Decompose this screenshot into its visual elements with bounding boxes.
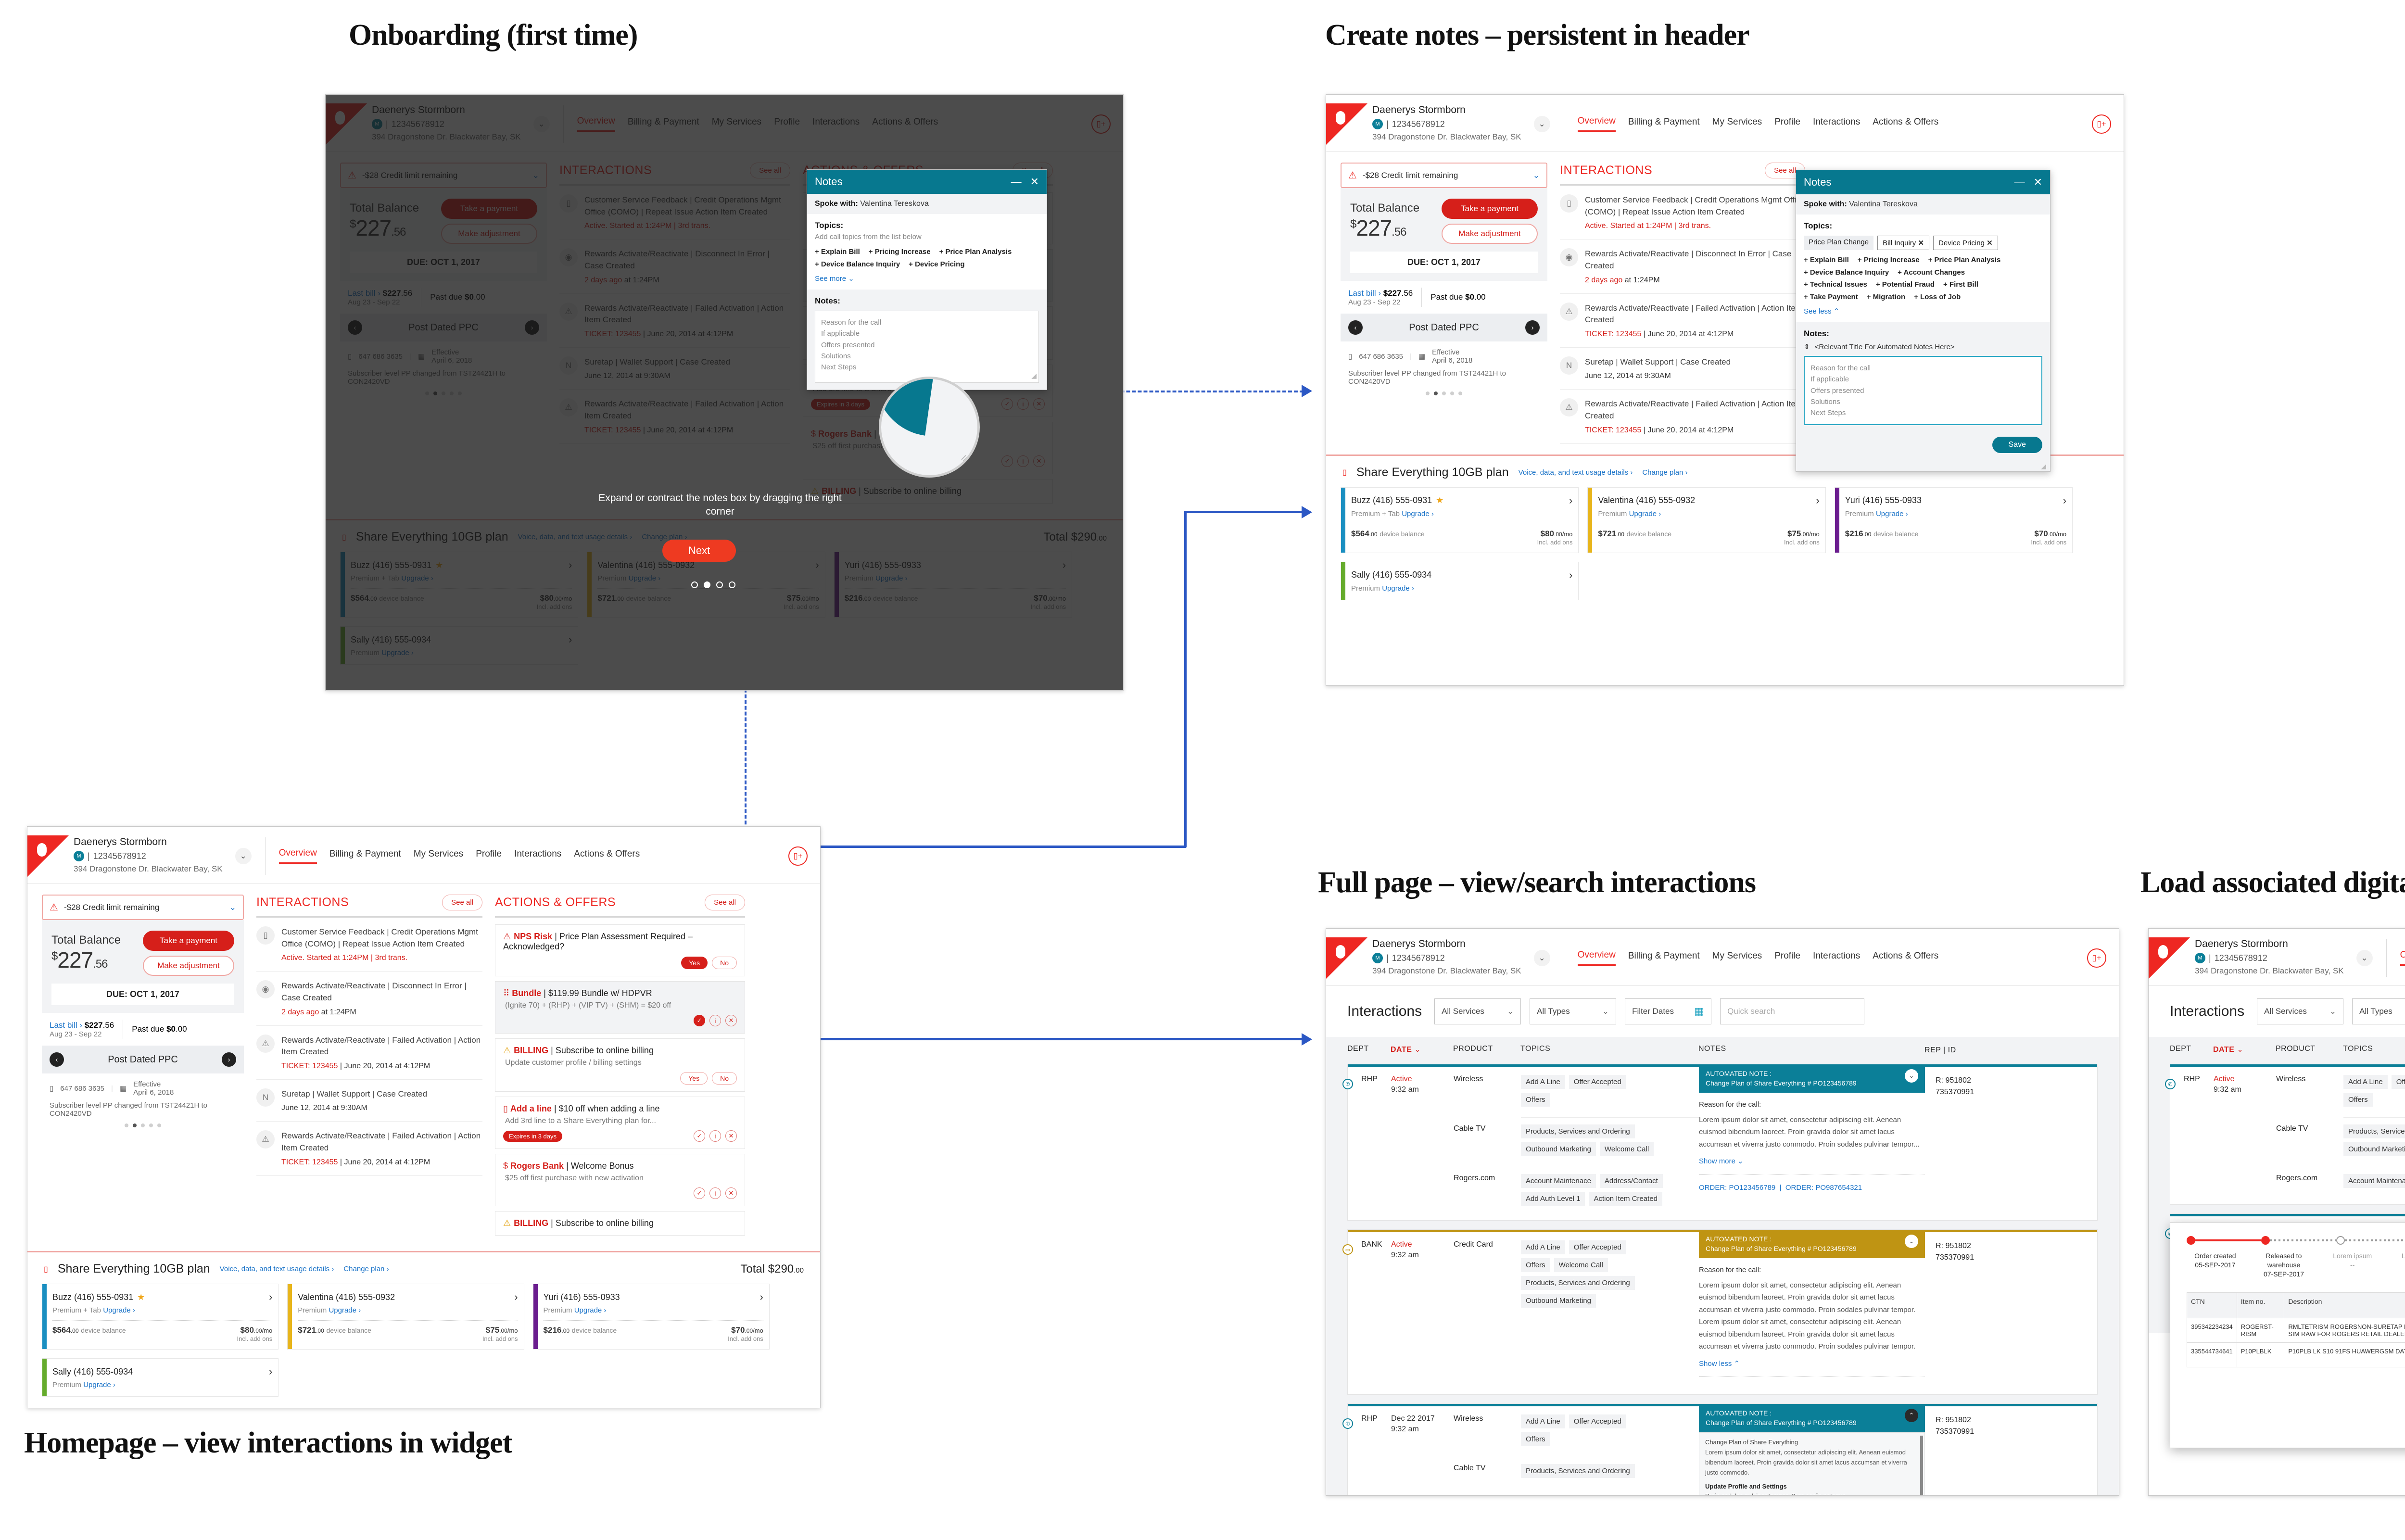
onboarding-step-dots[interactable] (691, 581, 735, 588)
list-item[interactable]: ⚠Rewards Activate/Reactivate | Failed Ac… (1560, 390, 1805, 443)
row-product: Rogers.com (2276, 1174, 2343, 1192)
topic-chip[interactable]: Offer Accepted (1569, 1414, 1626, 1428)
chevron-down-icon[interactable]: ⌄ (1533, 171, 1540, 180)
topic-chip[interactable]: Add Auth Level 1 (1521, 1192, 1585, 1206)
note-body: Lorem ipsum dolor sit amet, consectetur … (1699, 1281, 1915, 1351)
row-notes: AUTOMATED NOTE :Change Plan of Share Eve… (1699, 1075, 1925, 1210)
row-product: Wireless (2276, 1075, 2343, 1111)
show-less-link[interactable]: Show less ⌃ (1699, 1358, 1925, 1370)
topic-chip[interactable]: Device Pricing ✕ (1933, 236, 1998, 250)
line-upgrade-link[interactable]: Upgrade › (1629, 510, 1661, 518)
app-header-homepage: Daenerys Stormborn M | 12345678912 394 D… (27, 827, 820, 884)
chevron-down-icon[interactable]: ⌄ (229, 903, 236, 912)
tab-interactions[interactable]: Interactions (514, 849, 561, 863)
list-item[interactable]: Yuri (416) 555-0933›Premium Upgrade ›$21… (533, 1284, 770, 1350)
tab-actions-offers[interactable]: Actions & Offers (574, 849, 640, 863)
ppc-effective-label: Effective (133, 1080, 161, 1088)
list-item[interactable]: ◉Rewards Activate/Reactivate | Disconnec… (1560, 240, 1805, 293)
topic-option[interactable]: + Device Balance Inquiry (1804, 268, 1889, 277)
order-link[interactable]: ORDER: PO123456789 (1699, 1184, 1775, 1192)
balance-whole: 227 (1356, 215, 1392, 240)
spoke-with-label: Spoke with: (1804, 200, 1847, 208)
topic-option[interactable]: + Potential Fraud (1876, 280, 1935, 289)
ppc-note: Subscriber level PP changed from TST2442… (1348, 369, 1540, 386)
line-upgrade-link[interactable]: Upgrade › (574, 1306, 607, 1314)
col-notes: NOTES (1698, 1045, 1924, 1056)
list-item[interactable]: ⚠NPS Risk | Price Plan Assessment Requir… (495, 924, 745, 976)
interactions-header: INTERACTIONS See all (256, 895, 482, 910)
line-upgrade-link[interactable]: Upgrade › (1402, 510, 1434, 518)
close-icon[interactable]: ✕ (725, 1015, 737, 1026)
row-date: Active9:32 am (1391, 1240, 1454, 1384)
line-mo: $70 (731, 1325, 745, 1335)
balance-cents: .56 (93, 958, 107, 971)
topic-chip[interactable]: Welcome Call (1600, 1142, 1654, 1156)
line-addons: Incl. add ons (2031, 539, 2066, 546)
offer-yes-button[interactable]: Yes (680, 1072, 708, 1085)
customer-info: Daenerys Stormborn M | 12345678912 394 D… (2190, 937, 2344, 977)
table-row[interactable]: 395342234234 ROGERST-RISM RMLTETRISM ROG… (2187, 1318, 2405, 1342)
topic-chip[interactable]: Offers (1521, 1258, 1550, 1272)
topic-option[interactable]: + Price Plan Analysis (1928, 256, 2001, 264)
plan-lines: Buzz (416) 555-0931★›Premium + Tab Upgra… (42, 1284, 806, 1397)
cell-description: RMLTETRISM ROGERSNON-SURETAP MULTI SIM R… (2284, 1318, 2405, 1342)
list-item[interactable]: ⠿ Bundle | $119.99 Bundle w/ HDPVR(Ignit… (495, 981, 745, 1034)
drag-handle-icon[interactable]: ⇕ (1804, 342, 1810, 351)
table-row[interactable]: ✆ RHP Dec 22 20179:32 am Wireless Add A … (1347, 1403, 2098, 1496)
tab-billing-payment[interactable]: Billing & Payment (329, 849, 401, 863)
type-filter-select[interactable]: All Types⌄ (2352, 998, 2405, 1024)
make-adjustment-button[interactable]: Make adjustment (143, 956, 234, 976)
line-mo-cents: .00 (254, 1327, 262, 1334)
topic-chip[interactable]: Offer Accepted (1569, 1240, 1626, 1254)
take-payment-button[interactable]: Take a payment (143, 931, 234, 951)
resize-grip-icon[interactable]: ◢ (1031, 371, 1037, 381)
credit-limit-alert[interactable]: ⚠ -$28 Credit limit remaining ⌄ (1341, 163, 1547, 188)
make-adjustment-button[interactable]: Make adjustment (1442, 224, 1538, 244)
line-balance-label: device balance (1873, 530, 1918, 538)
scrollbar[interactable] (1920, 1436, 1923, 1496)
tab-actions-offers[interactable]: Actions & Offers (1873, 951, 1938, 965)
plan-usage-link[interactable]: Voice, data, and text usage details › (1519, 468, 1633, 477)
onboarding-tip-text: Expand or contract the notes box by drag… (585, 492, 855, 519)
line-addons: Incl. add ons (1537, 539, 1573, 546)
step-node[interactable] (2336, 1236, 2345, 1245)
chevron-down-icon[interactable]: ⌄ (1905, 1235, 1918, 1248)
topic-chip[interactable]: Outbound Marketing (1521, 1142, 1596, 1156)
col-topics: TOPICS (1520, 1045, 1698, 1056)
topic-chip[interactable]: Outbound Marketing (2343, 1142, 2405, 1156)
topics-section: Topics: Price Plan Change Bill Inquiry ✕… (1796, 215, 2050, 322)
topic-chip[interactable]: Add A Line (1521, 1414, 1565, 1428)
close-icon[interactable]: ✕ (725, 1187, 737, 1199)
row-product: Wireless (1454, 1075, 1521, 1111)
add-note-icon[interactable]: ▯+ (2087, 948, 2106, 968)
placeholder-line: Offers presented (1810, 385, 2036, 396)
list-item[interactable]: Buzz (416) 555-0931★›Premium + Tab Upgra… (42, 1284, 278, 1350)
chevron-down-icon[interactable]: ⌄ (2356, 950, 2373, 966)
topic-chip[interactable]: Bill Inquiry ✕ (1877, 236, 1929, 250)
interactions-filter-bar: Interactions All Services⌄ All Types⌄ Fi… (1326, 986, 2119, 1037)
topic-chip[interactable]: Products, Services and Ordering (1521, 1124, 1635, 1138)
notes-save-bar: Save (1796, 432, 2050, 460)
topic-option[interactable]: + Explain Bill (815, 248, 860, 256)
service-filter-select[interactable]: All Services⌄ (1434, 998, 1521, 1024)
line-name: Buzz (416) 555-0931 (52, 1292, 133, 1302)
info-icon[interactable]: i (709, 1015, 721, 1026)
col-date[interactable]: DATE ⌄ (1391, 1045, 1453, 1056)
step-date: 05-SEP-2017 (2195, 1261, 2235, 1269)
tab-my-services[interactable]: My Services (414, 849, 463, 863)
interactions-table-body: ✆ RHP Active9:32 am Wireless Add A LineO… (1326, 1064, 2119, 1496)
topic-chip[interactable]: Account Maintenace (1521, 1174, 1596, 1188)
note-body-block: Reason for the call: Lorem ipsum dolor s… (1699, 1093, 1925, 1194)
notes-panel-header: Notes —✕ (807, 170, 1047, 194)
chevron-down-icon[interactable]: ⌄ (235, 848, 252, 864)
app-header-digital-property: Daenerys Stormborn M | 12345678912 394 D… (2149, 929, 2405, 986)
tab-actions-offers[interactable]: Actions & Offers (1873, 117, 1938, 131)
document-icon: ▯ (256, 926, 275, 945)
chevron-up-icon[interactable]: ⌃ (1905, 1409, 1918, 1422)
account-separator: | (1386, 952, 1389, 964)
line-mo-suffix: /mo (1562, 530, 1573, 538)
see-more-link[interactable]: See more ⌄ (815, 274, 1039, 283)
date-filter-select[interactable]: Filter Dates▦ (1625, 998, 1711, 1024)
list-item[interactable]: ◉Rewards Activate/Reactivate | Disconnec… (256, 972, 482, 1025)
info-icon[interactable]: i (709, 1130, 721, 1142)
line-upgrade-link[interactable]: Upgrade › (103, 1306, 135, 1314)
col-ctn: CTN (2187, 1292, 2237, 1318)
topic-chip[interactable]: Products, Services and Ordering (1521, 1464, 1635, 1478)
chevron-down-icon[interactable]: ⌄ (1905, 1069, 1918, 1083)
topic-chip[interactable]: Address/Contact (1600, 1174, 1663, 1188)
warning-triangle-icon: ⚠ (256, 1035, 275, 1053)
interactions-see-all-button[interactable]: See all (442, 895, 482, 910)
chevron-down-icon[interactable]: ⌄ (1534, 950, 1550, 966)
save-button[interactable]: Save (1992, 437, 2042, 453)
plan-total-amount: $290 (768, 1262, 794, 1275)
plan-change-link[interactable]: Change plan › (1642, 468, 1687, 477)
minimize-icon[interactable]: — (2014, 176, 2025, 189)
list-item[interactable]: ▯ Add a line | $10 off when adding a lin… (495, 1097, 745, 1149)
topic-option[interactable]: + Explain Bill (1804, 256, 1849, 264)
order-step-labels: Order created05-SEP-2017 Released to war… (2170, 1245, 2405, 1279)
check-icon[interactable]: ✓ (694, 1187, 705, 1199)
list-item[interactable]: Buzz (416) 555-0931★›Premium + Tab Upgra… (1341, 487, 1579, 553)
tab-interactions[interactable]: Interactions (1813, 117, 1860, 131)
total-balance-label: Total Balance (51, 934, 121, 947)
last-bill-row: Last bill › $227.56 Aug 23 - Sep 22 Past… (1341, 281, 1547, 314)
plan-section: ▯ Share Everything 10GB plan Voice, data… (27, 1251, 820, 1397)
carousel-prev-icon[interactable]: ‹ (50, 1052, 64, 1067)
topic-option[interactable]: + Price Plan Analysis (939, 248, 1012, 256)
order-link[interactable]: ORDER: PO987654321 (1785, 1184, 1862, 1192)
service-filter-value: All Services (2264, 1007, 2307, 1016)
phone-icon: ▯ (1348, 352, 1352, 361)
step-node[interactable] (2261, 1236, 2270, 1245)
next-button[interactable]: Next (662, 540, 736, 562)
check-icon[interactable]: ✓ (694, 1130, 705, 1142)
placeholder-line: Next Steps (821, 362, 1033, 373)
list-item[interactable]: NSuretap | Wallet Support | Case Created… (256, 1080, 482, 1122)
tab-profile[interactable]: Profile (1774, 117, 1800, 131)
topic-option[interactable]: + Device Balance Inquiry (815, 260, 900, 268)
chevron-right-icon[interactable]: › (759, 1291, 763, 1303)
remove-chip-icon[interactable]: ✕ (1987, 239, 1993, 247)
topic-option[interactable]: + Migration (1867, 293, 1905, 301)
offer-yes-button[interactable]: Yes (681, 957, 708, 969)
col-date-label: DATE (2213, 1046, 2234, 1054)
tab-overview[interactable]: Overview (1578, 116, 1616, 132)
balance-cents: .56 (1392, 226, 1406, 239)
notes-panel-expanded[interactable]: Notes —✕ Spoke with: Valentina Tereskova… (1796, 170, 2051, 472)
topic-chip[interactable]: Add A Line (1521, 1240, 1565, 1254)
list-item[interactable]: ⚠Rewards Activate/Reactivate | Failed Ac… (256, 1026, 482, 1080)
past-due-cents: .00 (1474, 292, 1486, 302)
tab-profile[interactable]: Profile (1774, 951, 1800, 965)
last-bill-label[interactable]: Last bill › (1348, 289, 1381, 298)
topic-chip[interactable]: Price Plan Change (1804, 236, 1873, 250)
topic-chip[interactable]: Offers (1521, 1432, 1550, 1446)
notes-panel-onboarding[interactable]: Notes —✕ Spoke with: Valentina Tereskova… (807, 169, 1047, 390)
remove-chip-icon[interactable]: ✕ (1918, 239, 1924, 247)
interactions-table-header: DEPT DATE ⌄ PRODUCT TOPICS NOTES REP | I… (2149, 1037, 2405, 1064)
topic-chip[interactable]: Action Item Created (1589, 1192, 1662, 1206)
chevron-right-icon[interactable]: › (1569, 569, 1572, 581)
take-payment-button[interactable]: Take a payment (1442, 199, 1538, 219)
step-label: Released to warehouse (2266, 1252, 2302, 1269)
last-bill-label[interactable]: Last bill › (50, 1021, 82, 1030)
note-scroll-panel[interactable]: Change Plan of Share Everything Lorem ip… (1699, 1432, 1925, 1496)
list-item[interactable]: NSuretap | Wallet Support | Case Created… (1560, 348, 1805, 390)
interaction-meta: June 12, 2014 at 9:30AM (281, 1104, 427, 1112)
line-upgrade-link[interactable]: Upgrade › (83, 1381, 115, 1389)
brand-logo-icon (27, 835, 69, 877)
due-date-bar: DUE: OCT 1, 2017 (51, 984, 234, 1005)
notes-textarea[interactable]: Reason for the call If applicable Offers… (815, 311, 1039, 383)
topic-chip-label: Device Pricing (1938, 239, 1985, 247)
carousel-prev-icon[interactable]: ‹ (1348, 320, 1363, 335)
past-due-amount: $0 (166, 1024, 176, 1034)
account-separator: | (88, 850, 90, 862)
automated-note-title: Change Plan of Share Everything # PO1234… (1706, 1418, 1857, 1428)
total-balance-amount: $227.56 (1350, 215, 1419, 241)
row-time: 9:32 am (2214, 1086, 2276, 1094)
full-page-interactions-screen: Daenerys Stormborn M | 12345678912 394 D… (1326, 928, 2119, 1496)
automated-note-bar[interactable]: AUTOMATED NOTE :Change Plan of Share Eve… (1699, 1230, 1925, 1258)
chevron-right-icon[interactable]: › (1569, 494, 1572, 507)
show-more-link[interactable]: Show more ⌄ (1699, 1155, 1925, 1168)
search-input[interactable]: Quick search (1720, 998, 1864, 1024)
table-row[interactable]: ✆ RHP Active9:32 am Wireless Add A LineO… (2170, 1064, 2405, 1205)
tab-overview[interactable]: Overview (1578, 950, 1616, 966)
tab-my-services[interactable]: My Services (1712, 117, 1762, 131)
line-upgrade-link[interactable]: Upgrade › (329, 1306, 361, 1314)
notes-textarea[interactable]: Reason for the call If applicable Offers… (1804, 356, 2042, 425)
add-note-icon[interactable]: ▯+ (788, 846, 808, 866)
row-dept: BANK (1348, 1240, 1391, 1384)
interaction-meta-plain: | June 20, 2014 at 4:12PM (1641, 330, 1734, 338)
account-badge-icon: M (1372, 953, 1383, 963)
order-tracking-modal[interactable]: ✕ Order created05- (2170, 1222, 2405, 1448)
col-product: PRODUCT (1453, 1045, 1520, 1056)
topic-chip[interactable]: Products, Services and Ordering (2343, 1124, 2405, 1138)
topic-option[interactable]: + Loss of Job (1914, 293, 1961, 301)
topic-chip[interactable]: Offers (2343, 1093, 2373, 1107)
type-filter-select[interactable]: All Types⌄ (1530, 998, 1616, 1024)
list-item[interactable]: Sally (416) 555-0934›Premium Upgrade › (1341, 562, 1579, 600)
location-pin-icon: ◉ (1560, 248, 1578, 266)
topic-chip[interactable]: Offers (1521, 1093, 1550, 1107)
topic-option[interactable]: + Technical Issues (1804, 280, 1867, 289)
main-nav-tabs: Overview Billing & Payment My Services P… (2400, 950, 2405, 966)
close-icon[interactable]: ✕ (1030, 176, 1039, 188)
topic-option[interactable]: + Pricing Increase (1858, 256, 1920, 264)
topic-chip[interactable]: Outbound Marketing (1521, 1294, 1596, 1308)
offer-sub: Update customer profile / billing settin… (503, 1059, 737, 1067)
sort-chevron-icon: ⌄ (2237, 1046, 2243, 1054)
topics-available-list: + Explain Bill+ Pricing Increase+ Price … (1804, 254, 2042, 303)
line-name: Valentina (416) 555-0932 (1598, 495, 1695, 505)
chevron-right-icon[interactable]: › (2063, 494, 2066, 507)
topic-option[interactable]: + Device Pricing (909, 260, 964, 268)
offers-column: ACTIONS & OFFERS See all ⚠NPS Risk | Pri… (495, 895, 745, 1240)
topic-chip[interactable]: Offer Accepted (1569, 1075, 1626, 1089)
currency-symbol: $ (1350, 218, 1356, 231)
close-icon[interactable]: ✕ (725, 1130, 737, 1142)
topic-chip[interactable]: Offer Accepted (2392, 1075, 2405, 1089)
topic-option[interactable]: + Take Payment (1804, 293, 1858, 301)
line-upgrade-link[interactable]: Upgrade › (1876, 510, 1908, 518)
carousel-next-icon[interactable]: › (222, 1052, 236, 1067)
close-icon[interactable]: ✕ (2034, 176, 2042, 189)
table-row[interactable]: 335544734641 P10PLBLK P10PLB LK S10 91FS… (2187, 1342, 2405, 1367)
topic-option[interactable]: + Account Changes (1898, 268, 1965, 277)
table-row[interactable]: ▭ BANK Active9:32 am Credit Card Add A L… (1347, 1229, 2098, 1395)
connector-homepage-to-notes-h2 (1184, 511, 1304, 513)
plan-usage-link[interactable]: Voice, data, and text usage details › (220, 1265, 334, 1273)
step-date: 07-SEP-2017 (2264, 1270, 2304, 1278)
n-circle-icon: N (1560, 356, 1578, 375)
topic-option[interactable]: + Pricing Increase (869, 248, 931, 256)
billing-column: ⚠ -$28 Credit limit remaining ⌄ Total Ba… (1341, 163, 1547, 444)
placeholder-line: Offers presented (821, 340, 1033, 351)
last-bill-amount: $227 (85, 1021, 103, 1030)
chevron-right-icon[interactable]: › (514, 1291, 518, 1303)
carousel-next-icon[interactable]: › (1525, 320, 1540, 335)
section-title-create-notes: Create notes – persistent in header (1325, 18, 1749, 52)
add-note-icon[interactable]: ▯+ (2092, 114, 2111, 134)
tab-profile[interactable]: Profile (476, 849, 502, 863)
tab-overview[interactable]: Overview (279, 848, 317, 864)
offer-no-button[interactable]: No (712, 1072, 737, 1085)
topic-option[interactable]: + First Bill (1943, 280, 1978, 289)
chevron-down-icon[interactable]: ⌄ (1534, 116, 1550, 132)
col-date[interactable]: DATE ⌄ (2213, 1045, 2276, 1056)
interaction-text: Rewards Activate/Reactivate | Disconnect… (281, 980, 482, 1004)
tab-overview[interactable]: Overview (2400, 950, 2405, 966)
list-item[interactable]: ⚠Rewards Activate/Reactivate | Failed Ac… (256, 1122, 482, 1175)
tab-billing-payment[interactable]: Billing & Payment (1628, 117, 1700, 131)
warning-triangle-icon: ⚠ (256, 1130, 275, 1149)
interaction-meta: Active. Started at 1:24PM | 3rd trans. (1585, 222, 1805, 230)
tab-interactions[interactable]: Interactions (1813, 951, 1860, 965)
line-addons: Incl. add ons (1784, 539, 1820, 546)
tab-billing-payment[interactable]: Billing & Payment (1628, 951, 1700, 965)
offer-no-button[interactable]: No (712, 957, 737, 969)
line-name: Buzz (416) 555-0931 (1351, 495, 1432, 505)
line-name: Yuri (416) 555-0933 (544, 1292, 620, 1302)
order-items-table: CTN Item no. Description On hold Amount … (2187, 1292, 2405, 1367)
chevron-right-icon[interactable]: › (269, 1365, 272, 1378)
table-row[interactable]: ✆ RHP Active9:32 am Wireless Add A LineO… (1347, 1064, 2098, 1221)
line-upgrade-link[interactable]: Upgrade › (1382, 584, 1414, 593)
topic-chip[interactable]: Add A Line (2343, 1075, 2388, 1089)
calendar-icon: ▦ (120, 1084, 127, 1093)
see-less-link[interactable]: See less ⌃ (1804, 307, 2042, 316)
list-item[interactable]: Valentina (416) 555-0932›Premium Upgrade… (1587, 487, 1825, 553)
resize-grip-icon[interactable]: ◢ (2041, 462, 2046, 470)
check-icon[interactable]: ✓ (694, 1015, 705, 1026)
topic-chip[interactable]: Welcome Call (1554, 1258, 1608, 1272)
step-node[interactable] (2187, 1236, 2195, 1245)
service-filter-select[interactable]: All Services⌄ (2257, 998, 2343, 1024)
list-item[interactable]: Valentina (416) 555-0932›Premium Upgrade… (287, 1284, 524, 1350)
offers-see-all-button[interactable]: See all (705, 895, 745, 910)
interaction-text: Rewards Activate/Reactivate | Disconnect… (1585, 248, 1805, 272)
list-item[interactable]: ▯Customer Service Feedback | Credit Oper… (256, 918, 482, 972)
phone-icon: ✆ (2165, 1079, 2176, 1089)
credit-limit-text: -$28 Credit limit remaining (1363, 171, 1458, 180)
plan-change-link[interactable]: Change plan › (343, 1265, 389, 1273)
credit-limit-alert[interactable]: ⚠ -$28 Credit limit remaining ⌄ (42, 895, 244, 920)
topic-chip[interactable]: Add A Line (1521, 1075, 1565, 1089)
topic-chip[interactable]: Products, Services and Ordering (1521, 1276, 1635, 1290)
tab-my-services[interactable]: My Services (1712, 951, 1762, 965)
info-icon[interactable]: i (709, 1187, 721, 1199)
ppc-carousel-dots[interactable] (1348, 386, 1540, 395)
cell-ctn: 395342234234 (2187, 1318, 2237, 1342)
list-item[interactable]: Sally (416) 555-0934›Premium Upgrade › (42, 1358, 278, 1397)
interaction-meta: TICKET: 123455 | June 20, 2014 at 4:12PM (281, 1158, 482, 1167)
interactions-title: INTERACTIONS (256, 896, 349, 909)
topic-chip[interactable]: Account Maintenace (2343, 1174, 2405, 1188)
customer-name: Daenerys Stormborn (74, 835, 223, 849)
homepage-body: ⚠ -$28 Credit limit remaining ⌄ Total Ba… (27, 884, 820, 1251)
row-products-topics: Wireless Add A LineOffer AcceptedOffers … (1454, 1414, 1699, 1496)
interaction-meta-hl: TICKET: 123455 (281, 1062, 338, 1070)
connector-homepage-to-onboarding (745, 683, 747, 842)
interaction-meta: TICKET: 123455 | June 20, 2014 at 4:12PM (1585, 426, 1805, 435)
interaction-meta-hl: TICKET: 123455 (1585, 330, 1641, 338)
ppc-carousel-dots[interactable] (50, 1118, 236, 1127)
list-item[interactable]: ⚠Rewards Activate/Reactivate | Failed Ac… (1560, 294, 1805, 348)
line-mo-suffix: /mo (2056, 530, 2066, 538)
automated-note-bar[interactable]: AUTOMATED NOTE :Change Plan of Share Eve… (1699, 1404, 1925, 1432)
list-item[interactable]: ⚠BILLING | Subscribe to online billing (495, 1211, 745, 1236)
list-item[interactable]: Yuri (416) 555-0933›Premium Upgrade ›$21… (1835, 487, 2073, 553)
chevron-right-icon[interactable]: › (1816, 494, 1819, 507)
list-item[interactable]: ⚠BILLING | Subscribe to online billingUp… (495, 1038, 745, 1092)
line-balance: $564 (1351, 529, 1369, 538)
list-item[interactable]: ▯Customer Service Feedback | Credit Oper… (1560, 186, 1805, 240)
list-item[interactable]: $ Rogers Bank | Welcome Bonus$25 off fir… (495, 1154, 745, 1206)
interaction-meta-hl: 2 days ago (1585, 276, 1622, 284)
chevron-right-icon[interactable]: › (269, 1291, 272, 1303)
last-bill-range: Aug 23 - Sep 22 (1348, 298, 1413, 306)
automated-note-bar[interactable]: AUTOMATED NOTE :Change Plan of Share Eve… (1699, 1064, 1925, 1093)
minimize-icon[interactable]: — (1011, 176, 1022, 188)
